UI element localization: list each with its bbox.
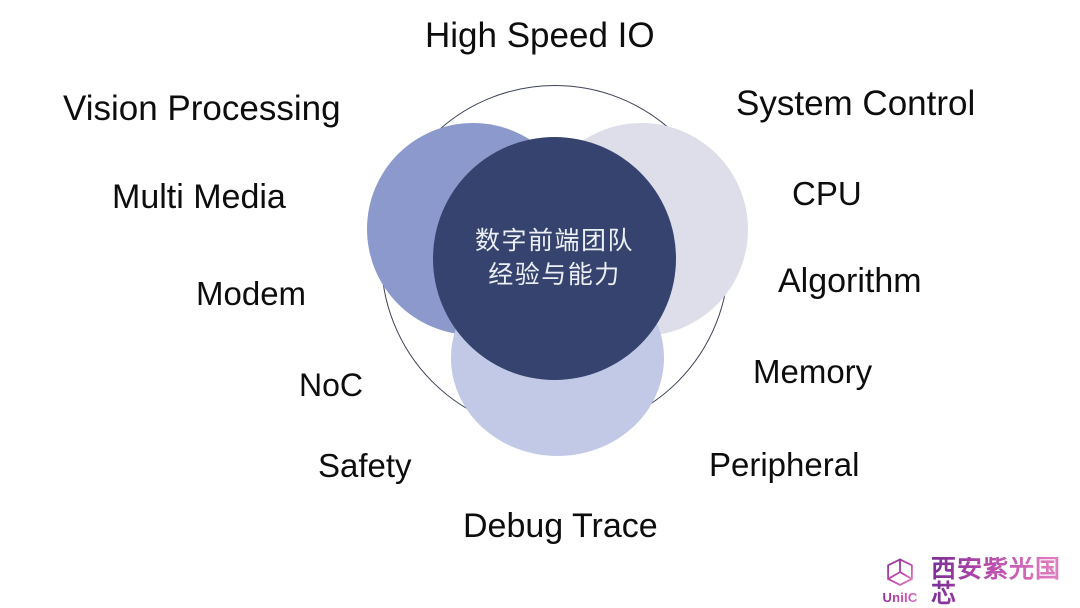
brand-latin-text: UniIC [883, 591, 918, 604]
brand-logo: UniIC 西安紫光国芯 [878, 555, 1080, 605]
label-high-speed-io: High Speed IO [425, 18, 655, 53]
slide-canvas: High Speed IO Vision Processing System C… [0, 0, 1080, 608]
core-text-line-1: 数字前端团队 [475, 225, 634, 259]
label-memory: Memory [753, 355, 872, 388]
label-cpu: CPU [792, 177, 862, 210]
label-vision-processing: Vision Processing [63, 91, 341, 126]
label-modem: Modem [196, 277, 306, 310]
cube-logo-icon [883, 556, 917, 590]
venn-diagram: 数字前端团队 经验与能力 [355, 75, 755, 465]
brand-chinese-text: 西安紫光国芯 [931, 557, 1080, 607]
venn-core-circle: 数字前端团队 经验与能力 [433, 137, 676, 380]
label-debug-trace: Debug Trace [463, 509, 658, 543]
label-algorithm: Algorithm [778, 264, 922, 298]
core-text-line-2: 经验与能力 [488, 259, 621, 293]
brand-mark: UniIC [878, 556, 922, 604]
label-system-control: System Control [736, 86, 975, 121]
label-multi-media: Multi Media [112, 180, 286, 214]
label-noc: NoC [299, 369, 363, 401]
